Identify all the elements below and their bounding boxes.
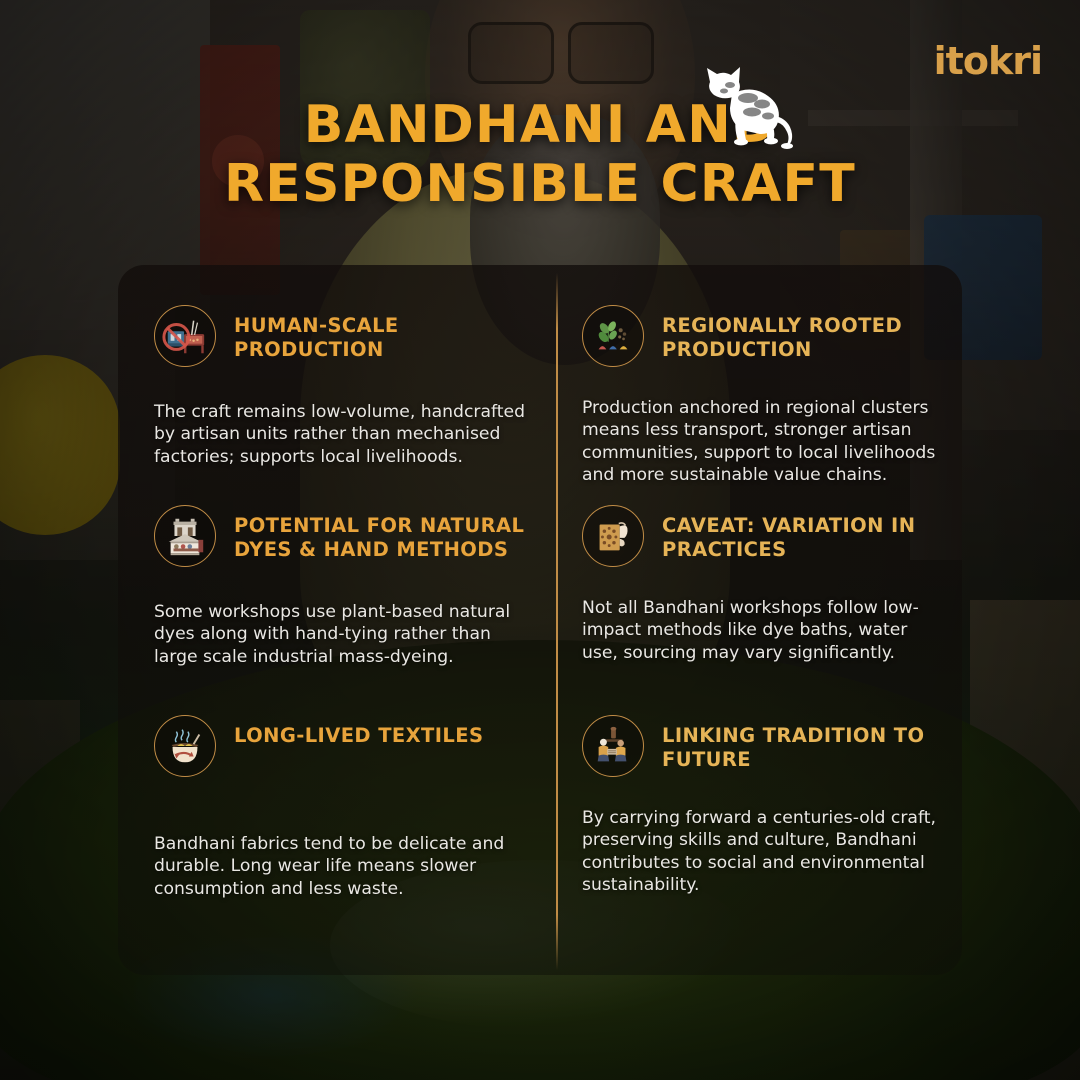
brand-logo[interactable]: itokri xyxy=(934,42,1042,80)
feature-card-caveat-variation-in-practices[interactable]: CAVEAT: VARIATION IN PRACTICES Not all B… xyxy=(556,465,962,675)
card-body: By carrying forward a centuries-old craf… xyxy=(582,807,942,896)
card-body: Some workshops use plant-based natural d… xyxy=(154,601,526,668)
card-header: CAVEAT: VARIATION IN PRACTICES xyxy=(582,465,942,567)
card-header: LINKING TRADITION TO FUTURE xyxy=(582,675,942,777)
artisan-workshop-building-icon xyxy=(154,505,216,567)
card-title: HUMAN-SCALE PRODUCTION xyxy=(234,305,526,362)
card-header: HUMAN-SCALE PRODUCTION xyxy=(154,265,526,367)
cat-illustration-icon xyxy=(690,54,800,159)
hand-holding-bandhani-fabric-icon xyxy=(582,505,644,567)
two-artisans-weaving-icon xyxy=(582,715,644,777)
page-title-line-1: BANDHANI AND xyxy=(0,96,1080,155)
no-factory-machine-icon xyxy=(154,305,216,367)
card-title: POTENTIAL FOR NATURAL DYES & HAND METHOD… xyxy=(234,505,526,562)
feature-card-linking-tradition-to-future[interactable]: LINKING TRADITION TO FUTURE By carrying … xyxy=(556,675,962,975)
card-body: Not all Bandhani workshops follow low-im… xyxy=(582,597,942,664)
feature-card-human-scale-production[interactable]: HUMAN-SCALE PRODUCTION The craft remains… xyxy=(118,265,556,465)
card-body: Bandhani fabrics tend to be delicate and… xyxy=(154,833,526,900)
card-title: REGIONALLY ROOTED PRODUCTION xyxy=(662,305,942,362)
card-header: REGIONALLY ROOTED PRODUCTION xyxy=(582,265,942,367)
feature-grid: HUMAN-SCALE PRODUCTION The craft remains… xyxy=(118,265,962,975)
card-header: POTENTIAL FOR NATURAL DYES & HAND METHOD… xyxy=(154,465,526,567)
feature-card-regionally-rooted-production[interactable]: REGIONALLY ROOTED PRODUCTION Production … xyxy=(556,265,962,465)
feature-card-natural-dyes-hand-methods[interactable]: POTENTIAL FOR NATURAL DYES & HAND METHOD… xyxy=(118,465,556,675)
plant-dye-leaves-icon xyxy=(582,305,644,367)
page-title-line-2: RESPONSIBLE CRAFT xyxy=(0,155,1080,214)
card-title: LONG-LIVED TEXTILES xyxy=(234,715,483,748)
card-header: LONG-LIVED TEXTILES xyxy=(154,675,526,777)
card-title: LINKING TRADITION TO FUTURE xyxy=(662,715,942,772)
feature-card-long-lived-textiles[interactable]: LONG-LIVED TEXTILES Bandhani fabrics ten… xyxy=(118,675,556,975)
brand-logo-text: itokri xyxy=(934,42,1042,80)
card-body: The craft remains low-volume, handcrafte… xyxy=(154,401,526,468)
steaming-dye-pot-icon xyxy=(154,715,216,777)
card-title: CAVEAT: VARIATION IN PRACTICES xyxy=(662,505,942,562)
page-title: BANDHANI AND RESPONSIBLE CRAFT xyxy=(0,96,1080,214)
